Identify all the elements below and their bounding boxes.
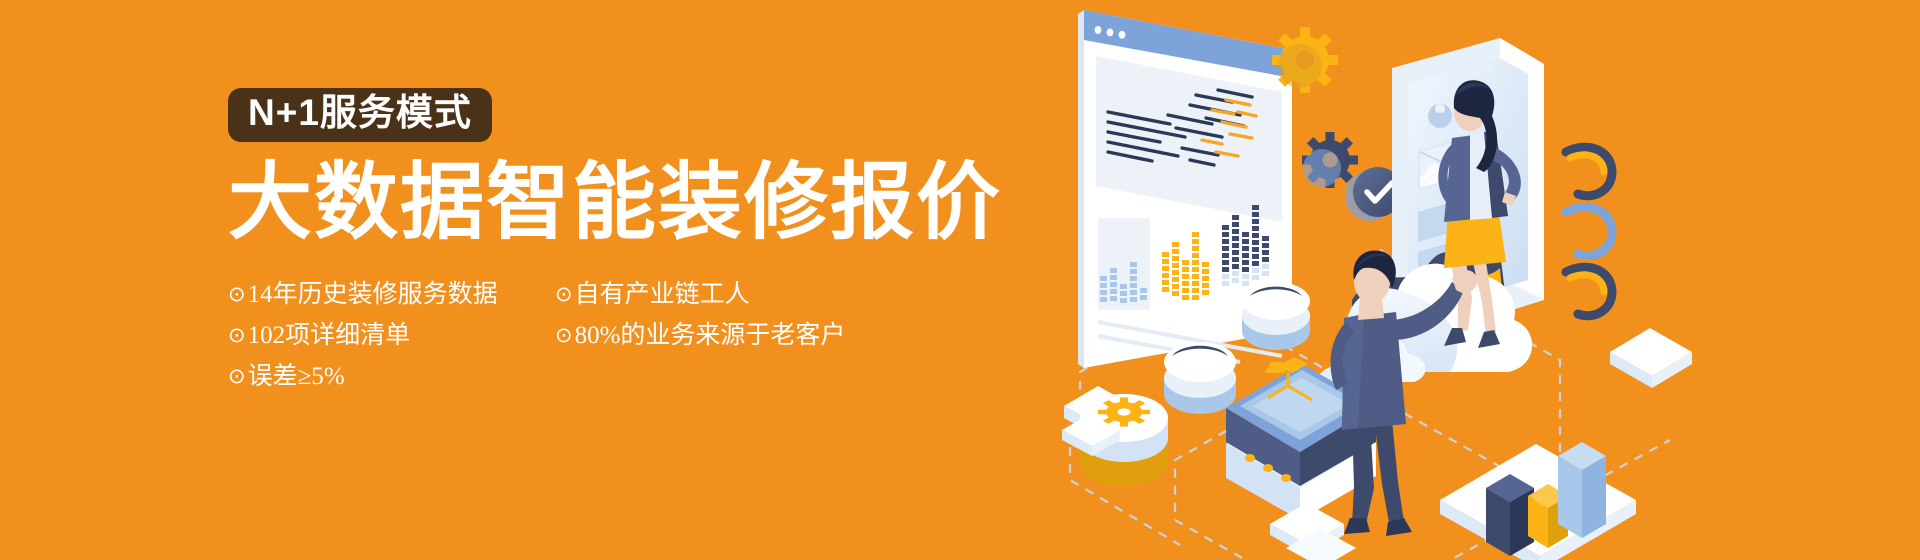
pixel-bar-chart-blue (1098, 218, 1150, 310)
list-item: ⊙ 80%的业务来源于老客户 (555, 315, 845, 356)
list-item: ⊙ 误差≥5% (228, 356, 543, 397)
feature-list: ⊙ 14年历史装修服务数据 ⊙ 102项详细清单 ⊙ 误差≥5% ⊙ 自有产业链… (228, 274, 988, 397)
list-item-label: 误差≥5% (248, 364, 345, 389)
list-item: ⊙ 102项详细清单 (228, 315, 543, 356)
list-item-label: 自有产业链工人 (575, 282, 750, 307)
circled-dot-icon: ⊙ (228, 284, 246, 305)
list-item: ⊙ 自有产业链工人 (555, 274, 845, 315)
gear-yellow (1272, 27, 1338, 93)
promo-banner: N+1服务模式 大数据智能装修报价 ⊙ 14年历史装修服务数据 ⊙ 102项详细… (0, 0, 1920, 560)
page-title: 大数据智能装修报价 (228, 160, 988, 244)
feature-column-left: ⊙ 14年历史装修服务数据 ⊙ 102项详细清单 ⊙ 误差≥5% (228, 274, 543, 397)
list-item-label: 102项详细清单 (248, 323, 411, 348)
isometric-bar-chart (1440, 442, 1636, 560)
service-mode-badge: N+1服务模式 (228, 88, 492, 142)
circled-dot-icon: ⊙ (555, 284, 573, 305)
circled-dot-icon: ⊙ (555, 325, 573, 346)
text-block: N+1服务模式 大数据智能装修报价 ⊙ 14年历史装修服务数据 ⊙ 102项详细… (228, 88, 988, 397)
circled-dot-icon: ⊙ (228, 366, 246, 387)
gear-navy (1302, 132, 1358, 188)
list-item-label: 14年历史装修服务数据 (248, 282, 498, 307)
circled-dot-icon: ⊙ (228, 325, 246, 346)
ring-arcs (1566, 147, 1612, 316)
list-item: ⊙ 14年历史装修服务数据 (228, 274, 543, 315)
feature-column-right: ⊙ 自有产业链工人 ⊙ 80%的业务来源于老客户 (555, 274, 845, 356)
list-item-label: 80%的业务来源于老客户 (575, 323, 846, 348)
